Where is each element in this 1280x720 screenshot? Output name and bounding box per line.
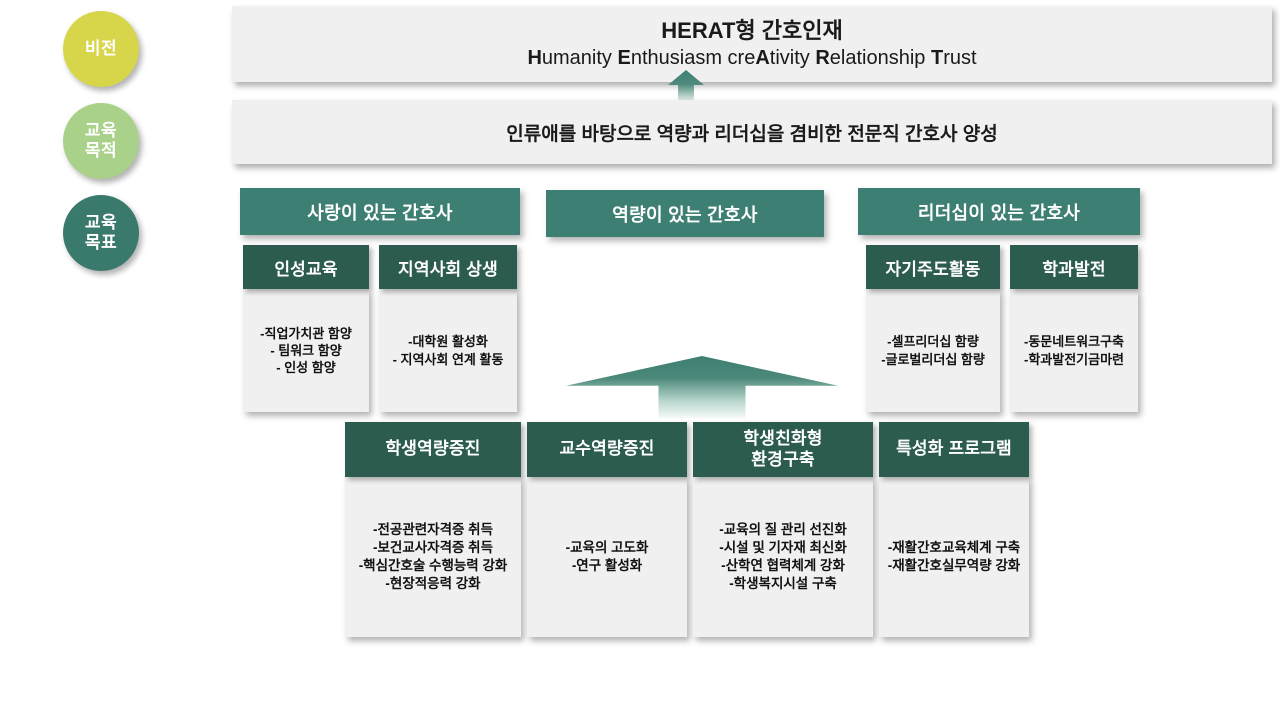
vision-subtitle-seg-3: tivity [770,47,816,69]
education-purpose-banner: 인류애를 바탕으로 역량과 리더십을 겸비한 전문직 간호사 양성 [232,100,1272,164]
bottom-items-faculty-competency: -교육의 고도화 -연구 활성화 [527,477,687,637]
group-header-leadership: 리더십이 있는 간호사 [858,188,1140,235]
wide-arrow-up-icon-competency [566,356,838,418]
bottom-header-specialized-program: 특성화 프로그램 [879,422,1029,477]
vision-subtitle: Humanity Enthusiasm creAtivity Relations… [527,45,976,71]
vision-banner: HERAT형 간호인재 Humanity Enthusiasm creAtivi… [232,6,1272,82]
sub-column-department-development: 학과발전 -동문네트워크구축 -학과발전기금마련 [1010,245,1138,412]
vision-subtitle-seg-2: nthusiasm cre [631,47,756,69]
bottom-header-student-friendly-environment: 학생친화형 환경구축 [693,422,873,477]
rail-circle-vision: 비전 [63,11,139,87]
sub-header-self-directed-activity: 자기주도활동 [866,245,1000,289]
sub-header-department-development: 학과발전 [1010,245,1138,289]
vision-title: HERAT형 간호인재 [661,17,842,46]
sub-items-department-development: -동문네트워크구축 -학과발전기금마련 [1010,289,1138,412]
rail-circle-education-goal: 교육 목표 [63,195,139,271]
diagram-canvas: 비전 교육 목적 교육 목표 HERAT형 간호인재 Humanity Enth… [0,0,1280,720]
education-purpose-text: 인류애를 바탕으로 역량과 리더십을 겸비한 전문직 간호사 양성 [506,119,997,146]
rail-circle-education-purpose: 교육 목적 [63,103,139,179]
bottom-column-faculty-competency: 교수역량증진 -교육의 고도화 -연구 활성화 [527,422,687,637]
herat-letter-h: H [527,47,541,69]
bottom-column-specialized-program: 특성화 프로그램 -재활간호교육체계 구축 -재활간호실무역량 강화 [879,422,1029,637]
bottom-column-student-competency: 학생역량증진 -전공관련자격증 취득 -보건교사자격증 취득 -핵심간호술 수행… [345,422,521,637]
bottom-header-student-competency: 학생역량증진 [345,422,521,477]
sub-items-community-coexistence: -대학원 활성화 - 지역사회 연계 활동 [379,289,517,412]
sub-column-self-directed-activity: 자기주도활동 -셀프리더십 함량 -글로벌리더십 함량 [866,245,1000,412]
group-header-love: 사랑이 있는 간호사 [240,188,520,235]
vision-subtitle-seg-5: rust [943,47,976,69]
sub-items-character-education: -직업가치관 함양 - 팀워크 함양 - 인성 함양 [243,289,369,412]
sub-header-character-education: 인성교육 [243,245,369,289]
group-header-competency: 역량이 있는 간호사 [546,190,824,237]
sub-header-community-coexistence: 지역사회 상생 [379,245,517,289]
bottom-header-faculty-competency: 교수역량증진 [527,422,687,477]
sub-items-self-directed-activity: -셀프리더십 함량 -글로벌리더십 함량 [866,289,1000,412]
sub-column-community-coexistence: 지역사회 상생 -대학원 활성화 - 지역사회 연계 활동 [379,245,517,412]
herat-letter-r: R [815,47,829,69]
vision-subtitle-seg-4: elationship [830,47,931,69]
sub-column-character-education: 인성교육 -직업가치관 함양 - 팀워크 함양 - 인성 함양 [243,245,369,412]
bottom-items-student-friendly-environment: -교육의 질 관리 선진화 -시설 및 기자재 최신화 -산학연 협력체계 강화… [693,477,873,637]
herat-letter-a: A [755,47,769,69]
bottom-items-student-competency: -전공관련자격증 취득 -보건교사자격증 취득 -핵심간호술 수행능력 강화 -… [345,477,521,637]
bottom-column-student-friendly-environment: 학생친화형 환경구축 -교육의 질 관리 선진화 -시설 및 기자재 최신화 -… [693,422,873,637]
bottom-items-specialized-program: -재활간호교육체계 구축 -재활간호실무역량 강화 [879,477,1029,637]
vision-subtitle-seg-1: umanity [542,47,618,69]
herat-letter-t: T [931,47,943,69]
herat-letter-e: E [617,47,630,69]
